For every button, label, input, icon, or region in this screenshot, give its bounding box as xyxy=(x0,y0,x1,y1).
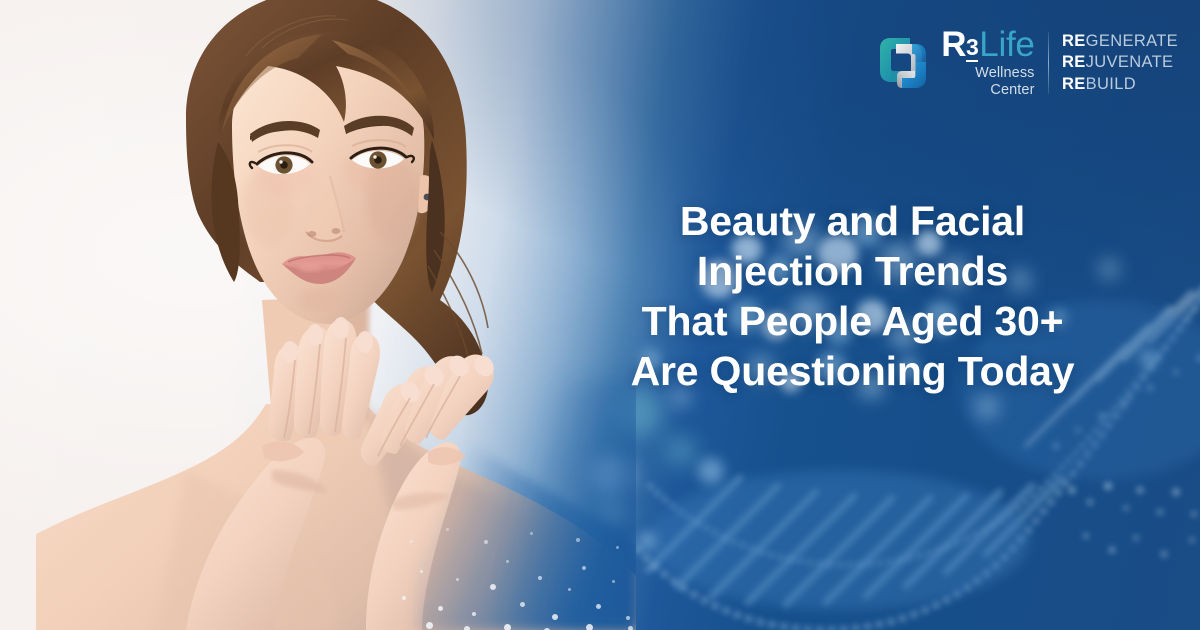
shoulder-particle-dissolve-effect xyxy=(380,420,650,630)
tagline-line-rebuild: REBUILD xyxy=(1062,74,1178,96)
wordmark-r: R xyxy=(941,27,966,62)
logo-divider xyxy=(1048,32,1050,94)
brand-logo-lockup[interactable]: R 3 Life Wellness Center REGENERATE REJU… xyxy=(872,27,1178,99)
tagline-line-rejuvenate: REJUVENATE xyxy=(1062,52,1178,74)
brand-wordmark-group: R 3 Life Wellness Center xyxy=(941,27,1034,99)
wordmark-life: Life xyxy=(979,27,1034,62)
wordmark-superscript-3: 3 xyxy=(966,36,978,62)
headline-line-2: Injection Trends xyxy=(585,246,1120,296)
page-title: Beauty and Facial Injection Trends That … xyxy=(585,196,1120,396)
brand-subtitle-line-2: Center xyxy=(975,82,1034,99)
tagline-line-regenerate: REGENERATE xyxy=(1062,31,1178,53)
logo-primary-group: R 3 Life Wellness Center xyxy=(872,27,1034,99)
r3life-logo-mark-icon xyxy=(872,32,934,94)
brand-subtitle-line-1: Wellness xyxy=(975,65,1034,82)
headline-line-4: Are Questioning Today xyxy=(585,346,1120,396)
headline-line-3: That People Aged 30+ xyxy=(585,296,1120,346)
hero-banner: Beauty and Facial Injection Trends That … xyxy=(0,0,1200,630)
brand-tagline: REGENERATE REJUVENATE REBUILD xyxy=(1062,31,1178,96)
headline-line-1: Beauty and Facial xyxy=(585,196,1120,246)
brand-wordmark: R 3 Life xyxy=(941,27,1034,63)
brand-subtitle: Wellness Center xyxy=(975,65,1034,99)
